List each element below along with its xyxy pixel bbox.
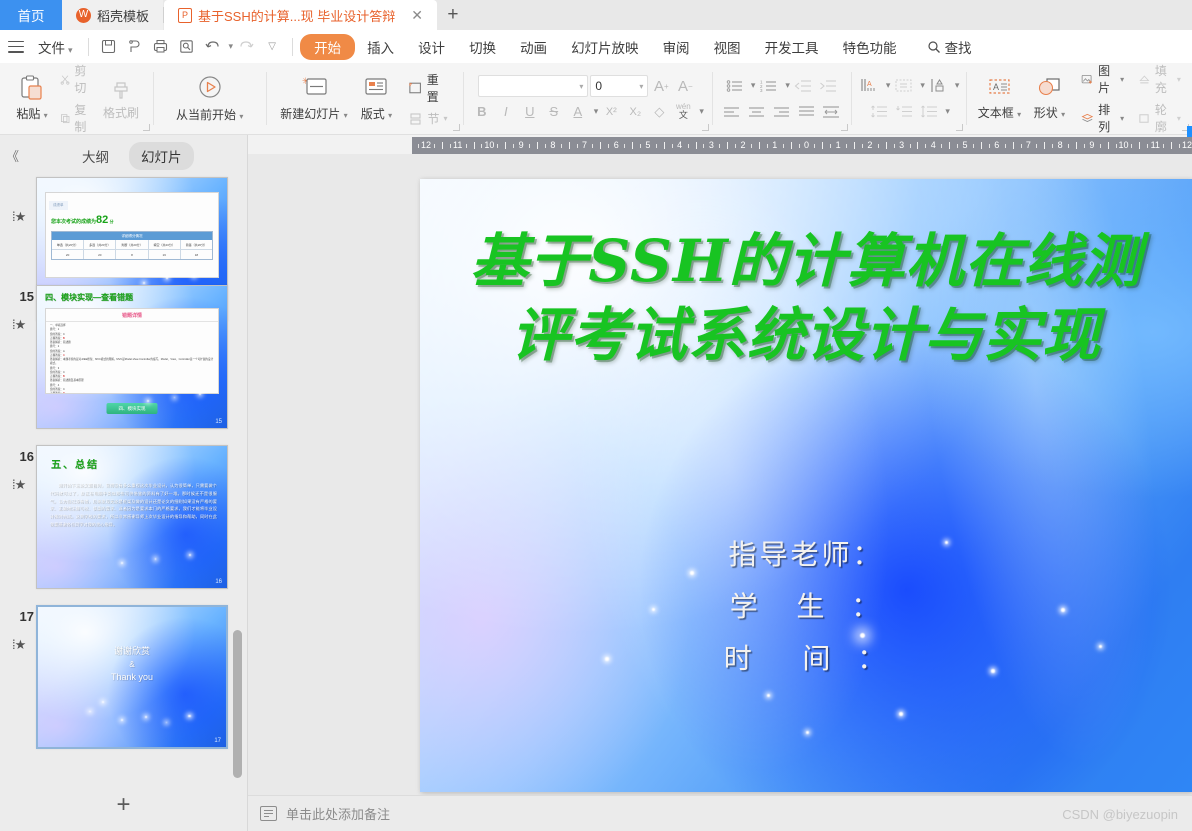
ruler-tick-label: 3 [899,137,904,154]
advisor-line: 指导老师： [420,529,1192,581]
pinyin-dropdown-icon[interactable]: ▾ [699,106,704,117]
ruler-tick [1131,144,1132,148]
font-group-expander[interactable] [702,124,709,131]
ruler-tick-label: 5 [645,137,650,154]
text-direction-group-expander[interactable] [956,124,963,131]
ruler-tick [1052,144,1053,148]
tab-docer-template[interactable]: W 稻壳模板 [62,0,163,30]
bullet-list-button[interactable] [723,75,746,96]
ruler-tick [1116,144,1117,148]
bullet-dropdown-icon[interactable]: ▾ [751,80,756,91]
chevron-down-icon: ▾ [68,45,73,55]
text-direction-button[interactable]: A [858,75,881,96]
ruler-tick [569,142,570,149]
paste-button[interactable]: 粘贴 ▾ [7,73,57,124]
ruler-tick [878,144,879,148]
redo-icon [233,35,259,59]
ruler-tick [854,142,855,149]
slide-corner-number: 16 [215,579,222,585]
slides-group-expander[interactable] [453,124,460,131]
thanks-subtitle: Thank you [38,671,226,685]
shape-label: 形状 ▾ [1034,104,1065,121]
grow-font-button[interactable]: A+ [650,76,672,97]
italic-button[interactable]: I [495,101,517,122]
picture-button[interactable]: 图片 ▾ [1078,61,1127,97]
ruler-tick [1021,144,1022,148]
ribbon-group-slides: ✳ 新建幻灯片 ▾ 版式 ▾ 重置 [266,63,462,134]
align-left-button[interactable] [720,101,743,122]
ruler-tick [917,142,918,149]
ruler-tick [608,144,609,148]
tab-home-label: 首页 [18,5,45,25]
ruler-tick [505,142,506,149]
superscript-button[interactable]: X² [600,101,622,122]
copy-icon [60,111,70,126]
ruler-tick [989,144,990,148]
convert-smartart-button[interactable] [927,75,950,96]
slide-navigator-header: 《 大纲 幻灯片 [0,135,247,173]
clear-format-button[interactable]: ◇ [648,101,670,122]
close-icon[interactable]: ✕ [411,7,423,24]
ruler-tick-label: 10 [1119,137,1129,154]
slide-subtitle-textbox[interactable]: 指导老师： 学 生 ： 时 间 ： [420,529,1192,684]
reset-icon [407,80,422,95]
line-spacing-after-button [892,101,915,122]
tab-bar: 首页 W 稻壳模板 P 基于SSH的计算...现 毕业设计答辩 ✕ + [0,0,1192,30]
print-preview-icon[interactable] [122,35,148,59]
fill-icon [1138,72,1151,87]
reset-button[interactable]: 重置 [404,70,452,106]
ruler-tick [1044,142,1045,149]
ribbon-tab-view[interactable]: 视图 [702,34,753,60]
menu-divider-2 [292,38,293,56]
ruler-tick [910,144,911,148]
decrease-indent-button [792,75,815,96]
ruler-tick [862,144,863,148]
slide-title-textbox[interactable]: 基于SSH的计算机在线测 评考试系统设计与实现 [420,224,1192,372]
save-icon[interactable] [96,35,122,59]
start-from-current-button[interactable]: 从当前开始 ▾ [171,72,248,125]
chevron-down-icon[interactable]: ▾ [579,82,583,91]
ribbon-group-play: 从当前开始 ▾ [153,63,266,134]
ruler-tick [696,142,697,149]
ribbon-group-clipboard: 粘贴 ▾ 剪切 复制 格式刷 [0,63,153,134]
ruler-tick [751,144,752,148]
outline-button: 轮廓 ▾ [1135,100,1184,136]
ruler-tick [791,142,792,149]
ruler-tick [442,142,443,149]
section-label: 节 [427,110,439,127]
list-item[interactable]: ⁞★ 成绩单 您本次考试的成绩为82 分 详细得分情况 单选（共20分） 多选（… [0,173,247,273]
ruler-tick [735,144,736,148]
ruler-tick-label: 0 [804,137,809,154]
font-size-value: 0 [595,79,602,93]
line-spacing-dropdown-icon[interactable]: ▾ [945,106,950,117]
ruler-tick [799,144,800,148]
ruler-tick [418,144,419,148]
slide-corner-number: 15 [215,419,222,425]
ruler-tick-label: 1 [772,137,777,154]
fill-label: 填充 [1155,62,1173,96]
ruler-tick [624,144,625,148]
ruler-tick [703,144,704,148]
ruler-tick [814,144,815,148]
hamburger-icon[interactable] [8,41,24,53]
slide-number: 17 [10,609,34,624]
line-spacing-before-button [867,101,890,122]
find-button-label: 查找 [945,37,972,57]
bold-button[interactable]: B [471,101,493,122]
ruler-tick [767,144,768,148]
ruler-tick [577,144,578,148]
animation-star-icon: ⁞★ [12,477,25,493]
format-painter-icon [108,76,134,102]
ruler-tick [886,142,887,149]
ribbon-tab-animation[interactable]: 动画 [508,34,559,60]
ruler-tick [529,144,530,148]
ribbon-group-font: ▾ 0 ▾ A+ A− B I U S A ▾ X² X₂ ◇ [463,63,712,134]
slide-title-line-2: 评考试系统设计与实现 [420,298,1192,372]
subscript-button[interactable]: X₂ [624,101,646,122]
animation-star-icon: ⁞★ [12,209,25,225]
ruler-tick [957,144,958,148]
ruler-tick [783,144,784,148]
search-icon [927,40,941,54]
ruler-tick [973,144,974,148]
underline-button[interactable]: U [519,101,541,122]
svg-text:3: 3 [760,88,763,93]
copy-button: 复制 [57,100,94,136]
list-item[interactable]: 16 ⁞★ 五、总结 刚开始下达论文题目时，觉得没有多么重视这次毕业设计，认为很… [0,441,247,593]
textbox-button[interactable]: A 文本框 ▾ [974,74,1024,123]
thanks-amp: & [38,659,226,671]
text-direction-dropdown-icon[interactable]: ▾ [886,80,891,91]
copy-label: 复制 [74,101,91,135]
ruler-tick [822,142,823,149]
slide-thumbnail-15[interactable]: 四、模块实现—查看错题 错题详情 一、单项选择题号：1您的答案：C正确答案：B答… [36,285,228,429]
ruler-tick [941,144,942,148]
slide-title: 四、模块实现—查看错题 [45,292,133,303]
slide-thumbnail-list[interactable]: ⁞★ 成绩单 您本次考试的成绩为82 分 详细得分情况 单选（共20分） 多选（… [0,173,247,779]
ruler-tick [1139,142,1140,149]
ruler-tick-label: 3 [709,137,714,154]
ruler-tick [1100,144,1101,148]
picture-icon [1081,72,1094,87]
ruler-tick [830,144,831,148]
tab-docer-label: 稻壳模板 [97,6,149,25]
ruler-tick-label: 9 [1089,137,1094,154]
ruler-tick [1108,142,1109,149]
ruler-tick-label: 11 [1151,137,1160,154]
ruler-tick [513,144,514,148]
file-menu-label: 文件 [38,41,65,56]
font-color-dropdown-icon[interactable]: ▾ [594,106,599,117]
ruler-tick-label: 12 [1182,137,1192,154]
numbering-dropdown-icon[interactable]: ▾ [785,80,790,91]
ruler-tick [561,144,562,148]
tab-presentation[interactable]: P 基于SSH的计算...现 毕业设计答辩 ✕ [164,0,437,30]
ruler-tick [450,144,451,148]
ruler-tick [474,142,475,149]
ruler-tick [481,144,482,148]
pinyin-guide-button[interactable]: wén文 [672,101,694,122]
ribbon-tab-design[interactable]: 设计 [406,34,457,60]
shape-icon [1034,76,1064,102]
new-tab-button[interactable]: + [437,0,469,30]
ruler-tick-label: 10 [484,137,494,154]
clipboard-group-expander[interactable] [143,124,150,131]
slide-title: 五、总结 [51,456,99,471]
slide-navigator-panel: 《 大纲 幻灯片 ⁞★ 成绩单 您本次考试的成绩为82 分 详细得分情况 [0,135,248,831]
ribbon-group-text-direction: A ▾ ▾ ▾ ▾ [851,63,967,134]
slide-thumbnail-17[interactable]: 谢谢欣赏 & Thank you 17 [36,605,228,749]
ruler-tick [537,142,538,149]
ruler-tick [1068,144,1069,148]
ruler-tick [434,144,435,148]
ruler-tick [1084,144,1085,148]
ruler-tick-label: 11 [453,137,462,154]
tab-presentation-label: 基于SSH的计算...现 毕业设计答辩 [198,6,395,25]
align-center-button[interactable] [745,101,768,122]
ruler-tick [981,142,982,149]
section-icon [407,111,423,126]
svg-text:A: A [867,81,872,88]
picture-label: 图片 [1098,62,1116,96]
ruler-tick-label: 7 [582,137,587,154]
textbox-label: 文本框 ▾ [978,104,1021,121]
powerpoint-file-icon: P [178,8,192,23]
strikethrough-button[interactable]: S [543,101,565,122]
format-painter-label: 格式刷 [103,104,139,121]
undo-icon[interactable] [200,35,226,59]
ruler-tick [466,144,467,148]
ruler-tick [846,144,847,148]
ruler-tick [1147,144,1148,148]
ruler-tick-label: 6 [994,137,999,154]
find-doc-icon[interactable] [174,35,200,59]
paragraph-group-expander[interactable] [841,124,848,131]
ruler-tick [497,144,498,148]
ribbon-tab-review[interactable]: 审阅 [651,34,702,60]
svg-text:A: A [993,82,999,92]
ribbon-tab-insert[interactable]: 插入 [355,34,406,60]
slide-thumbnail-16[interactable]: 五、总结 刚开始下达论文题目时，觉得没有多么重视这次毕业设计，认为很简单，只需要… [36,445,228,589]
font-size-input[interactable]: 0 ▾ [590,75,648,97]
ruler-tick [925,144,926,148]
slide-editing-stage[interactable]: 基于SSH的计算机在线测 评考试系统设计与实现 指导老师： 学 生 ： 时 间 … [248,154,1192,795]
layout-label: 版式 ▾ [361,105,392,122]
ruler-tick-label: 5 [963,137,968,154]
smartart-dropdown-icon[interactable]: ▾ [955,80,960,91]
notes-icon [260,806,277,821]
ruler-tick-label: 2 [867,137,872,154]
ruler-tick-label: 4 [677,137,682,154]
ruler-tick [1076,142,1077,149]
ruler-tick [1005,144,1006,148]
outline-icon [1138,111,1151,126]
fill-button: 填充 ▾ [1135,61,1184,97]
ruler-tick [949,142,950,149]
ribbon-tab-transition[interactable]: 切换 [457,34,508,60]
ribbon-tab-devtools[interactable]: 开发工具 [753,34,831,60]
list-item[interactable]: 17 ⁞★ 谢谢欣赏 & Thank you 17 [0,601,247,753]
cut-button: 剪切 [57,61,94,97]
ruler-tick [688,144,689,148]
date-line: 时 间 ： [420,633,1192,685]
align-text-dropdown-icon[interactable]: ▾ [920,80,925,91]
ruler-tick-label: 12 [421,137,431,154]
tab-home[interactable]: 首页 [0,0,62,30]
menu-bar: 文件▾ ▾ ▽ 开始 插入 设计 切换 动画 幻灯片放映 审阅 视图 开发 [0,30,1192,63]
paste-label: 粘贴 ▾ [16,105,47,122]
animation-star-icon: ⁞★ [12,637,25,653]
tab-slides[interactable]: 幻灯片 [129,142,194,170]
ruler-tick [592,144,593,148]
shape-button[interactable]: 形状 ▾ [1024,74,1074,123]
notes-bar[interactable]: 单击此处添加备注 CSDN @biyezuopin [248,795,1192,831]
ruler-tick [759,142,760,149]
new-slide-button[interactable]: ✳ 新建幻灯片 ▾ [276,73,351,124]
reset-label: 重置 [427,71,450,105]
arrange-icon [1081,111,1094,126]
ruler-tick [727,142,728,149]
menu-divider [88,38,89,56]
collapse-panel-icon[interactable]: 《 [6,146,19,165]
ruler-tick-label: 2 [741,137,746,154]
thanks-title: 谢谢欣赏 [38,645,226,659]
slide-title-line-1: 基于SSH的计算机在线测 [420,224,1192,298]
ruler-tick [1171,142,1172,149]
new-slide-icon: ✳ [298,75,330,103]
line-spacing-button [917,101,940,122]
numbered-list-button[interactable]: 123 [757,75,780,96]
font-name-input[interactable]: ▾ [478,75,588,97]
start-from-current-label: 从当前开始 ▾ [176,106,243,123]
ribbon-group-paragraph: ▾ 123 ▾ [712,63,851,134]
slide-number: 16 [10,449,34,464]
list-item[interactable]: 15 ⁞★ 四、模块实现—查看错题 错题详情 一、单项选择题号：1您的答案：C正… [0,281,247,433]
ribbon-tab-start[interactable]: 开始 [300,34,355,60]
arrange-label: 排列 [1098,101,1116,135]
thumbnail-scrollbar[interactable] [233,630,242,778]
animation-star-icon: ⁞★ [12,317,25,333]
slide-number: 15 [10,289,34,304]
ruler-tick [600,142,601,149]
student-line: 学 生 ： [420,581,1192,633]
ruler-tick [664,142,665,149]
section-button: 节 ▾ [404,109,452,128]
ribbon-tab-features[interactable]: 特色功能 [831,34,909,60]
ruler-tick [632,142,633,149]
ruler-tick [1036,144,1037,148]
justify-button[interactable] [795,101,818,122]
ruler-tick [894,144,895,148]
chevron-down-icon[interactable]: ▾ [639,82,643,91]
textbox-icon: A [984,76,1014,102]
horizontal-ruler[interactable]: 1211109876543210123456789101112 [412,137,1192,154]
format-painter-button: 格式刷 [96,74,146,123]
wps-presentation-window: 首页 W 稻壳模板 P 基于SSH的计算...现 毕业设计答辩 ✕ + 文件▾ [0,0,1192,831]
ruler-tick-label: 1 [836,137,841,154]
ribbon-toolbar: 粘贴 ▾ 剪切 复制 格式刷 [0,63,1192,135]
arrange-button[interactable]: 排列 ▾ [1078,100,1127,136]
layout-button[interactable]: 版式 ▾ [351,73,401,124]
ruler-tick-label: 4 [931,137,936,154]
add-slide-button[interactable]: + [0,779,247,831]
ruler-tick [640,144,641,148]
outline-label: 轮廓 [1155,101,1173,135]
customize-qat-icon[interactable]: ▽ [259,35,285,59]
slide-corner-number: 17 [214,738,221,744]
ribbon-tab-slideshow[interactable]: 幻灯片放映 [559,34,651,60]
shrink-font-button[interactable]: A− [674,76,696,97]
ruler-tick-label: 9 [519,137,524,154]
new-slide-label: 新建幻灯片 ▾ [280,105,347,122]
ruler-tick-label: 8 [1058,137,1063,154]
play-icon [195,74,225,104]
ruler-tick-label: 8 [550,137,555,154]
print-icon[interactable] [148,35,174,59]
watermark: CSDN @biyezuopin [1062,807,1178,822]
ruler-tick [1013,142,1014,149]
distribute-button[interactable] [820,101,843,122]
ribbon-group-drawing: A 文本框 ▾ 形状 ▾ 图片 ▾ [966,63,1191,134]
ruler-tick [1179,144,1180,148]
ruler-tick [672,144,673,148]
increase-indent-button [817,75,840,96]
file-menu[interactable]: 文件▾ [30,37,81,57]
scissors-icon [60,72,70,87]
ruler-tick [719,144,720,148]
notes-placeholder[interactable]: 单击此处添加备注 [286,804,390,823]
ruler-tick-label: 6 [614,137,619,154]
align-text-button [892,75,915,96]
ruler-tick [1163,144,1164,148]
wps-docer-icon: W [76,8,91,23]
ruler-tick [545,144,546,148]
find-button[interactable]: 查找 [927,37,972,57]
ruler-tick [656,144,657,148]
font-color-button[interactable]: A [567,101,589,122]
ruler-tick-label: 7 [1026,137,1031,154]
align-right-button[interactable] [770,101,793,122]
cut-label: 剪切 [74,62,91,96]
tab-outline[interactable]: 大纲 [70,142,121,170]
current-slide[interactable]: 基于SSH的计算机在线测 评考试系统设计与实现 指导老师： 学 生 ： 时 间 … [420,179,1192,792]
layout-icon [361,75,391,103]
